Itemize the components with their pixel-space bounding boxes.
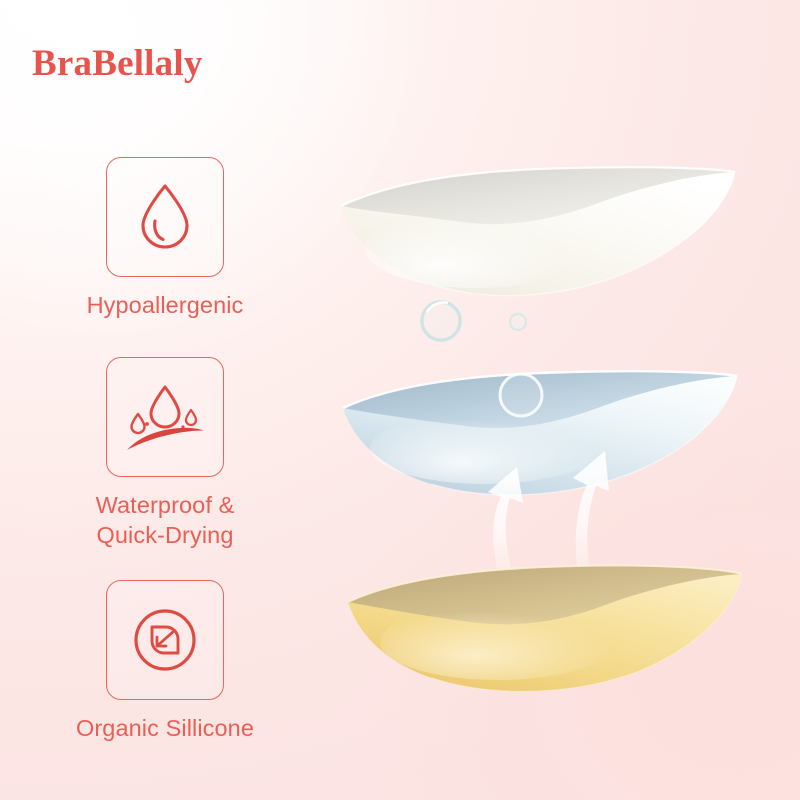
feature-icon-box [106,357,224,477]
feature-caption-line: Quick-Drying [0,520,330,550]
feature-hypoallergenic[interactable]: Hypoallergenic [0,157,330,320]
water-repellent-droplets-icon [124,380,206,454]
feature-caption-line: Organic Sillicone [0,713,330,743]
bubble-large [422,302,460,340]
feature-organic-sillicone[interactable]: Organic Sillicone [0,580,330,743]
bubble-on-pad [500,374,542,416]
feature-waterproof-quick-drying[interactable]: Waterproof & Quick-Drying [0,357,330,550]
feature-icon-box [106,580,224,700]
feature-caption: Hypoallergenic [0,290,330,320]
bubble-small [510,314,526,330]
feature-caption: Organic Sillicone [0,713,330,743]
clear-silicone-pad [325,128,745,308]
organic-leaf-icon [130,605,200,675]
feature-caption: Waterproof & Quick-Drying [0,490,330,550]
infographic-canvas: Hypoallergenic [0,0,800,800]
feature-caption-line: Waterproof & [0,490,330,520]
golden-silicone-pad [328,530,748,700]
feature-caption-line: Hypoallergenic [0,290,330,320]
water-droplet-icon [134,180,196,254]
brand-logo: BraBellaly [32,42,203,85]
feature-icon-box [106,157,224,277]
feature-list: Hypoallergenic [0,0,330,800]
